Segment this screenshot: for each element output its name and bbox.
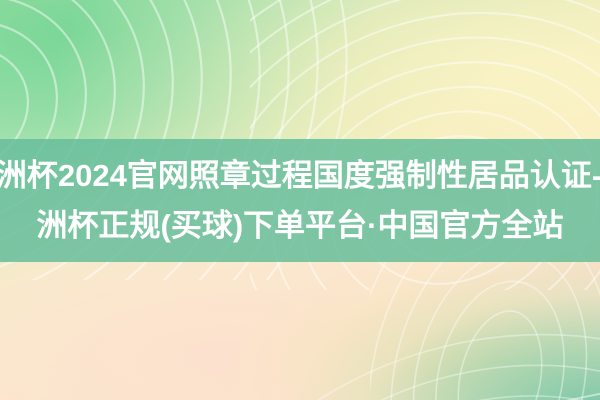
- title-band: 欧洲杯2024官网照章过程国度强制性居品认证-欧 洲杯正规(买球)下单平台·中国…: [0, 139, 600, 262]
- banner-title-line-2: 洲杯正规(买球)下单平台·中国官方全站: [37, 201, 564, 251]
- promo-banner: 欧洲杯2024官网照章过程国度强制性居品认证-欧 洲杯正规(买球)下单平台·中国…: [0, 0, 600, 400]
- banner-title-line-1: 欧洲杯2024官网照章过程国度强制性居品认证-欧: [0, 151, 600, 201]
